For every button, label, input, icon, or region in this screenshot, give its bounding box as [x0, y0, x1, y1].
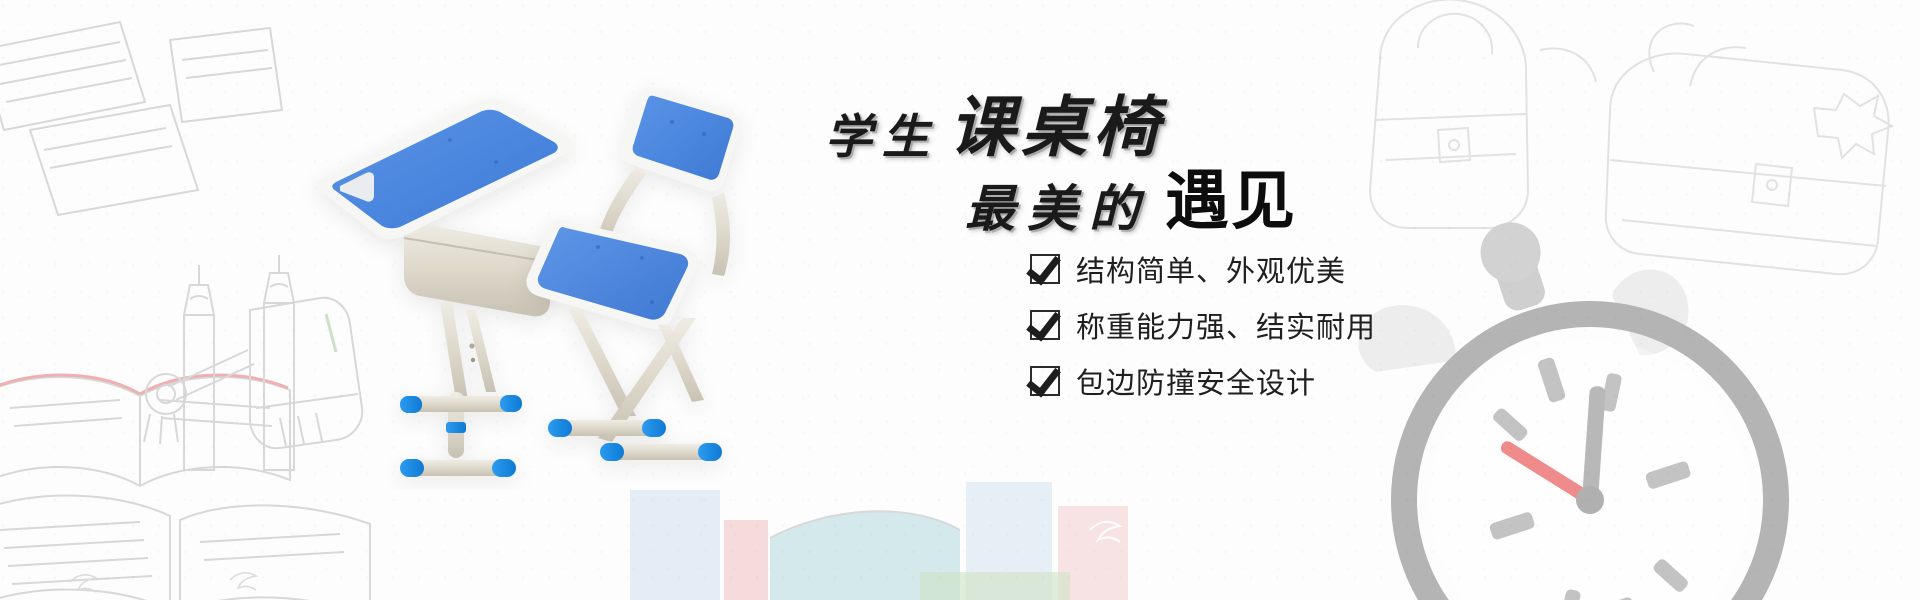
feature-item: 结构简单、外观优美 [1030, 248, 1376, 290]
headline-line-2: 最美的遇见 [965, 170, 1570, 234]
headline-and-features-layer: 学生课桌椅 最美的遇见 结构简单、外观优美 称重能力强、结实耐用 包边防撞安全设… [0, 0, 1920, 600]
headline-line2-part2: 遇见 [1165, 170, 1297, 234]
feature-label: 结构简单、外观优美 [1076, 248, 1346, 290]
headline-line1-part2: 课桌椅 [949, 96, 1165, 162]
headline-line1-part1: 学生 [825, 115, 939, 162]
checkbox-checked-icon [1030, 366, 1060, 396]
feature-label: 称重能力强、结实耐用 [1076, 304, 1376, 346]
headline-line2-part1: 最美的 [965, 184, 1151, 234]
promo-banner: 学生课桌椅 最美的遇见 结构简单、外观优美 称重能力强、结实耐用 包边防撞安全设… [0, 0, 1920, 600]
checkbox-checked-icon [1030, 254, 1060, 284]
feature-list: 结构简单、外观优美 称重能力强、结实耐用 包边防撞安全设计 [1030, 248, 1376, 416]
feature-item: 称重能力强、结实耐用 [1030, 304, 1376, 346]
feature-item: 包边防撞安全设计 [1030, 360, 1376, 402]
checkbox-checked-icon [1030, 310, 1060, 340]
headline-line-1: 学生课桌椅 [825, 96, 1570, 162]
headline-block: 学生课桌椅 最美的遇见 [1010, 96, 1570, 234]
feature-label: 包边防撞安全设计 [1076, 360, 1316, 402]
